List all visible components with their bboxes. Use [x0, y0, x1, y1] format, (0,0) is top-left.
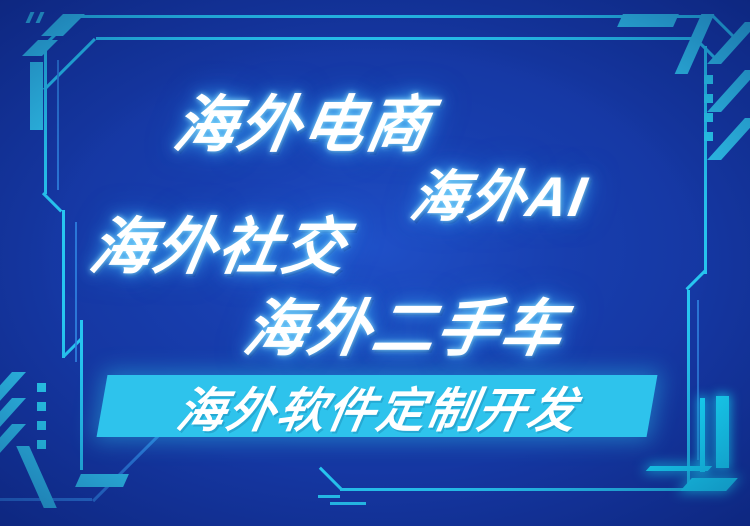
- headline-overseas-ai: 海外AI: [405, 152, 595, 233]
- headline-overseas-social: 海外社交: [84, 196, 356, 286]
- cta-banner-label: 海外软件定制开发: [111, 378, 646, 434]
- poster-canvas: 海外电商 海外AI 海外社交 海外二手车 海外软件定制开发: [0, 0, 750, 526]
- headline-overseas-ecommerce: 海外电商: [168, 74, 440, 164]
- headline-overseas-used-cars: 海外二手车: [238, 278, 574, 368]
